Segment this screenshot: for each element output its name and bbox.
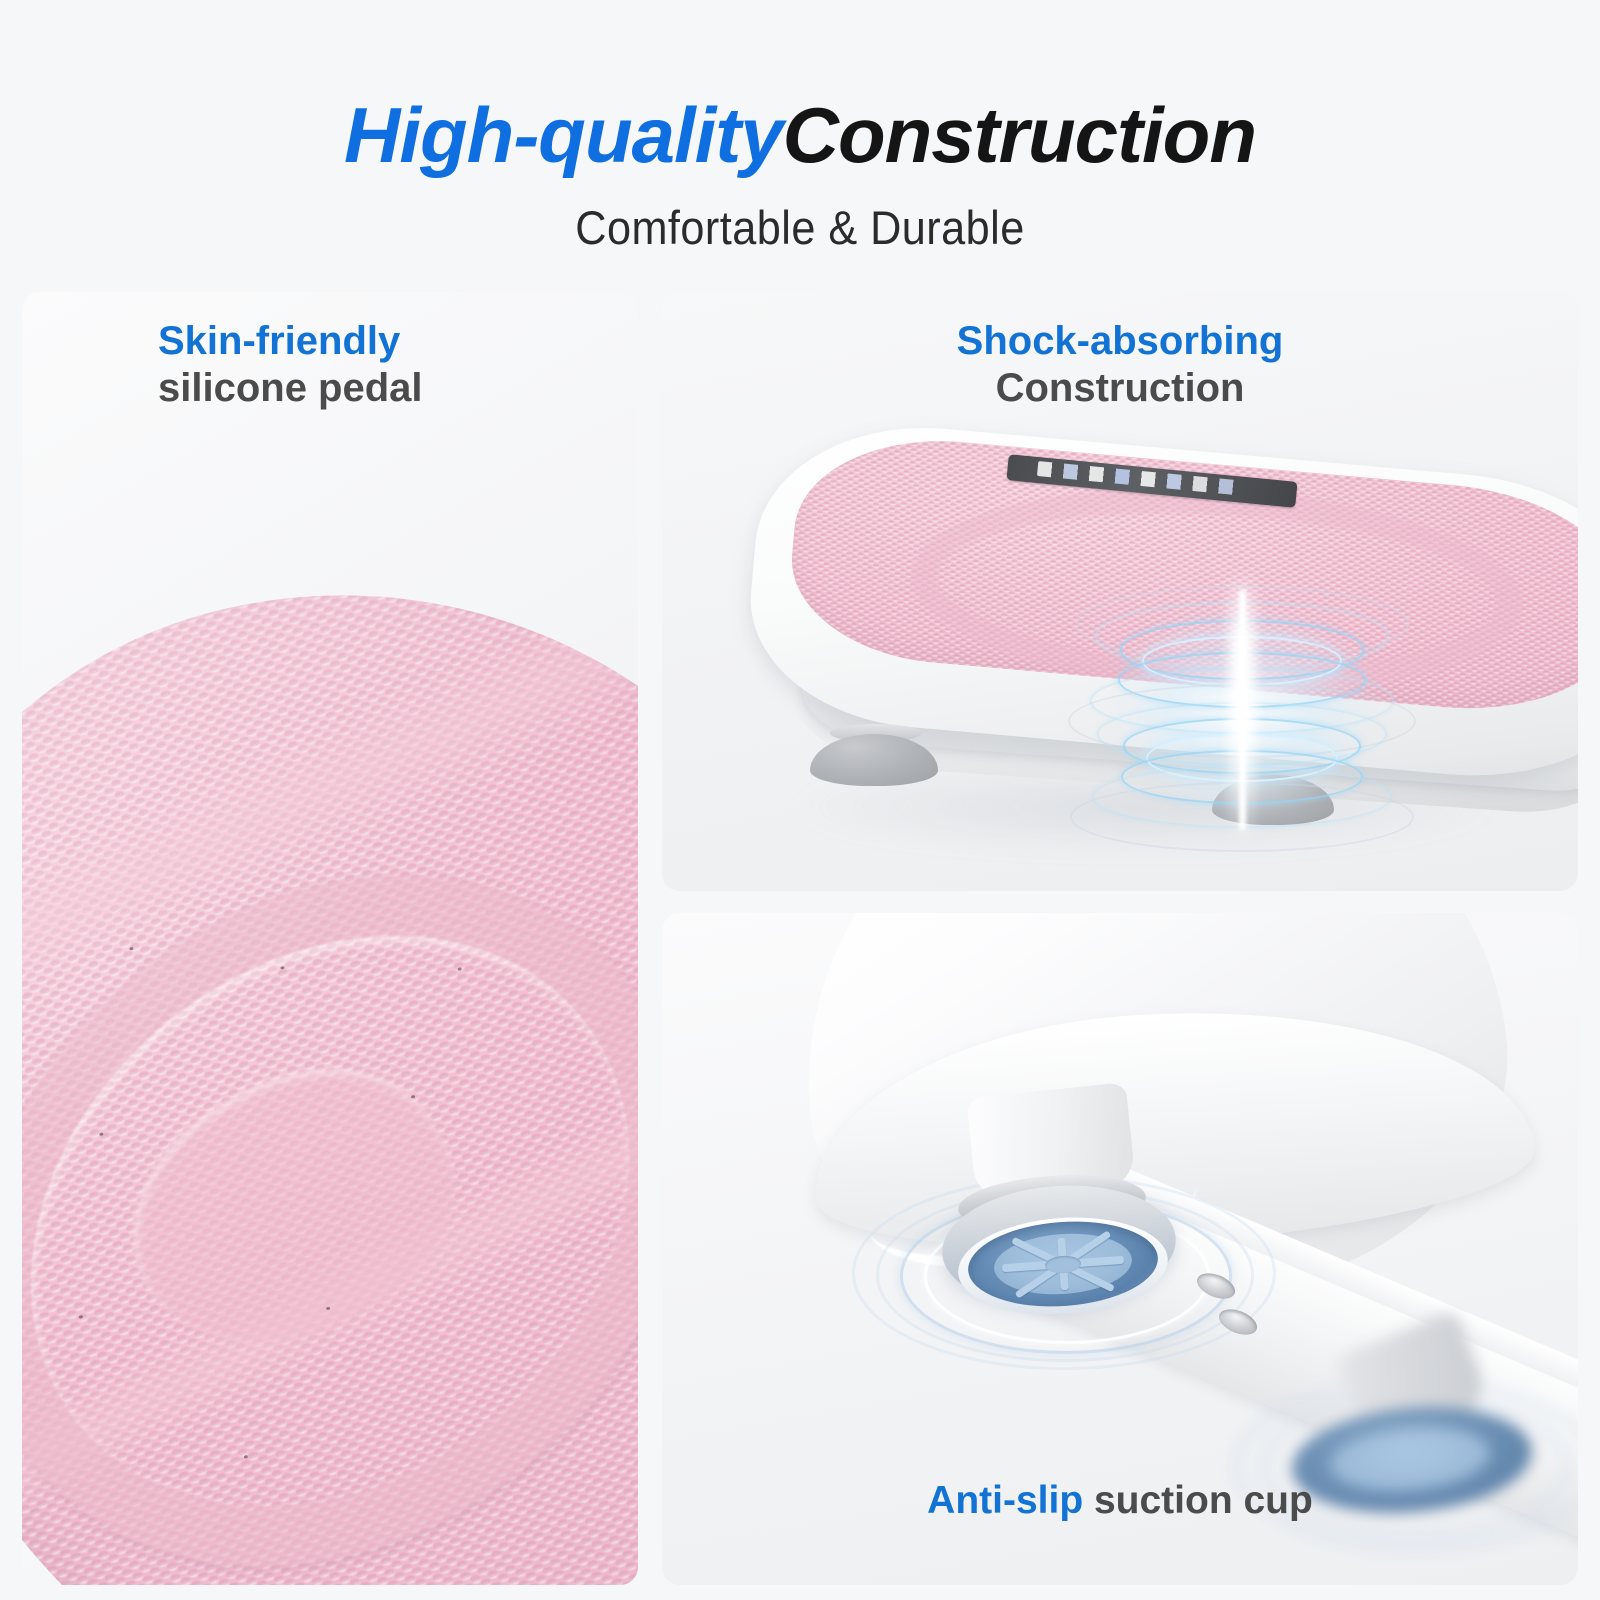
caption-shock-absorbing: Shock-absorbing Construction <box>662 318 1578 412</box>
caption-skin-friendly: Skin-friendly silicone pedal <box>158 318 423 412</box>
silicone-pedal-surface <box>22 469 638 1585</box>
caption-skin-friendly-highlight: Skin-friendly <box>158 318 423 365</box>
caption-anti-slip: Anti-slip suction cup <box>662 1478 1578 1524</box>
page-title-highlight: High-quality <box>344 91 783 179</box>
infographic-canvas: High-qualityConstruction Comfortable & D… <box>0 0 1600 1600</box>
caption-shock-absorbing-rest: Construction <box>662 365 1578 412</box>
page-subtitle: Comfortable & Durable <box>64 204 1536 251</box>
header: High-qualityConstruction Comfortable & D… <box>0 0 1600 292</box>
page-title: High-qualityConstruction <box>0 96 1600 174</box>
pedal-macro-image <box>22 292 638 1585</box>
panel-skin-friendly-pedal <box>22 292 638 1585</box>
caption-anti-slip-rest: suction cup <box>1083 1479 1313 1522</box>
caption-skin-friendly-rest: silicone pedal <box>158 365 423 412</box>
caption-anti-slip-highlight: Anti-slip <box>927 1479 1083 1522</box>
page-title-rest: Construction <box>783 91 1256 179</box>
caption-shock-absorbing-highlight: Shock-absorbing <box>662 318 1578 365</box>
